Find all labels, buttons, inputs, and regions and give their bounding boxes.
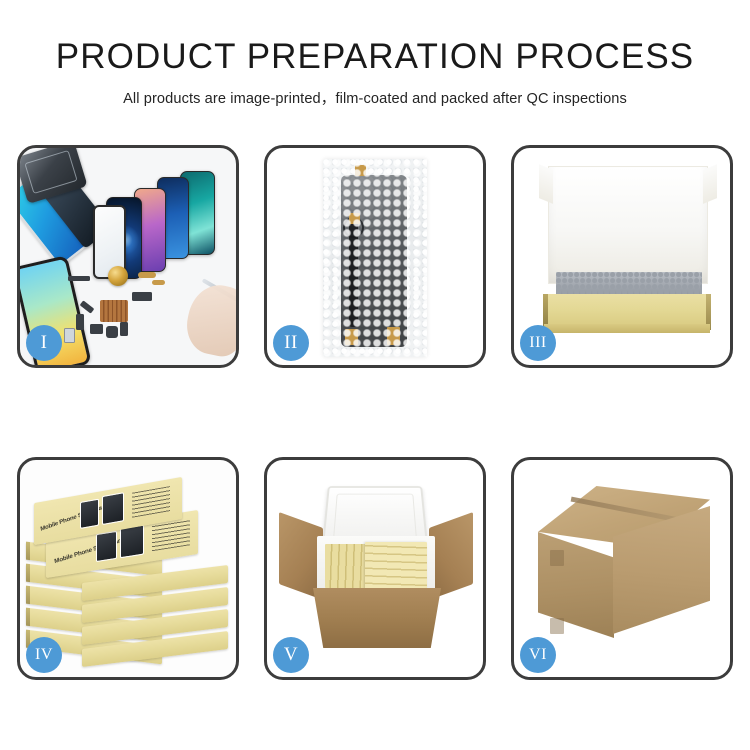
chip-array-icon — [100, 300, 128, 322]
tape-tab-mid-icon — [349, 213, 360, 224]
tape-tab-bottom-left-icon — [345, 329, 358, 345]
technician-hand-icon — [181, 280, 236, 361]
product-preparation-infographic: PRODUCT PREPARATION PROCESS All products… — [0, 0, 750, 750]
process-step-panel-2: II — [264, 145, 486, 368]
process-step-panel-3: III — [511, 145, 733, 368]
box-spec-lines-front — [152, 519, 190, 551]
box-window-front-2 — [120, 525, 144, 559]
step-badge-2: II — [273, 325, 309, 361]
box-window-back-2 — [102, 492, 124, 525]
carton-front-panel-icon — [313, 588, 441, 648]
carton-tab-upper-icon — [550, 550, 564, 566]
carton-flap-right-icon — [429, 512, 473, 600]
small-bracket-icon — [80, 300, 95, 313]
box-window-back-1 — [80, 499, 99, 529]
page-subtitle: All products are image-printed，film-coat… — [0, 87, 750, 108]
carton-tab-lower-icon — [550, 618, 564, 634]
process-step-panel-5: V — [264, 457, 486, 680]
flex-cable-gold-icon — [138, 272, 156, 278]
step-badge-4: IV — [26, 637, 62, 673]
vibrator-icon — [106, 326, 118, 338]
camera-module-icon — [90, 324, 103, 334]
step-badge-3: III — [520, 325, 556, 361]
bubble-wrap-bag-icon — [323, 159, 427, 357]
tape-tab-top-icon — [355, 165, 366, 176]
step-badge-1: I — [26, 325, 62, 361]
process-step-panel-1: I — [17, 145, 239, 368]
sensor-icon — [64, 328, 75, 343]
box-spec-lines-back — [132, 486, 170, 518]
header: PRODUCT PREPARATION PROCESS All products… — [0, 38, 750, 108]
button-flex-icon — [76, 314, 84, 330]
shield-can-icon — [132, 292, 152, 301]
connector-part-icon — [68, 276, 90, 281]
speaker-part-icon — [108, 266, 128, 286]
box-lid-white-icon — [548, 166, 708, 284]
process-steps-grid: I II — [17, 145, 733, 680]
inner-box-front-edge-icon — [544, 324, 710, 333]
page-title: PRODUCT PREPARATION PROCESS — [0, 38, 750, 76]
sim-tray-icon — [120, 322, 128, 336]
tape-tab-bottom-right-icon — [387, 327, 400, 345]
step-badge-6: VI — [520, 637, 556, 673]
step-badge-5: V — [273, 637, 309, 673]
flex-cable-gold-2-icon — [152, 280, 165, 285]
box-window-front-1 — [96, 531, 117, 562]
part-flex-cable-icon — [349, 219, 358, 327]
packed-yellow-boxes-right — [365, 542, 427, 590]
process-step-panel-6: VI — [511, 457, 733, 680]
process-step-panel-4: Mobile Phone Spare Parts Mobile Phone Sp… — [17, 457, 239, 680]
